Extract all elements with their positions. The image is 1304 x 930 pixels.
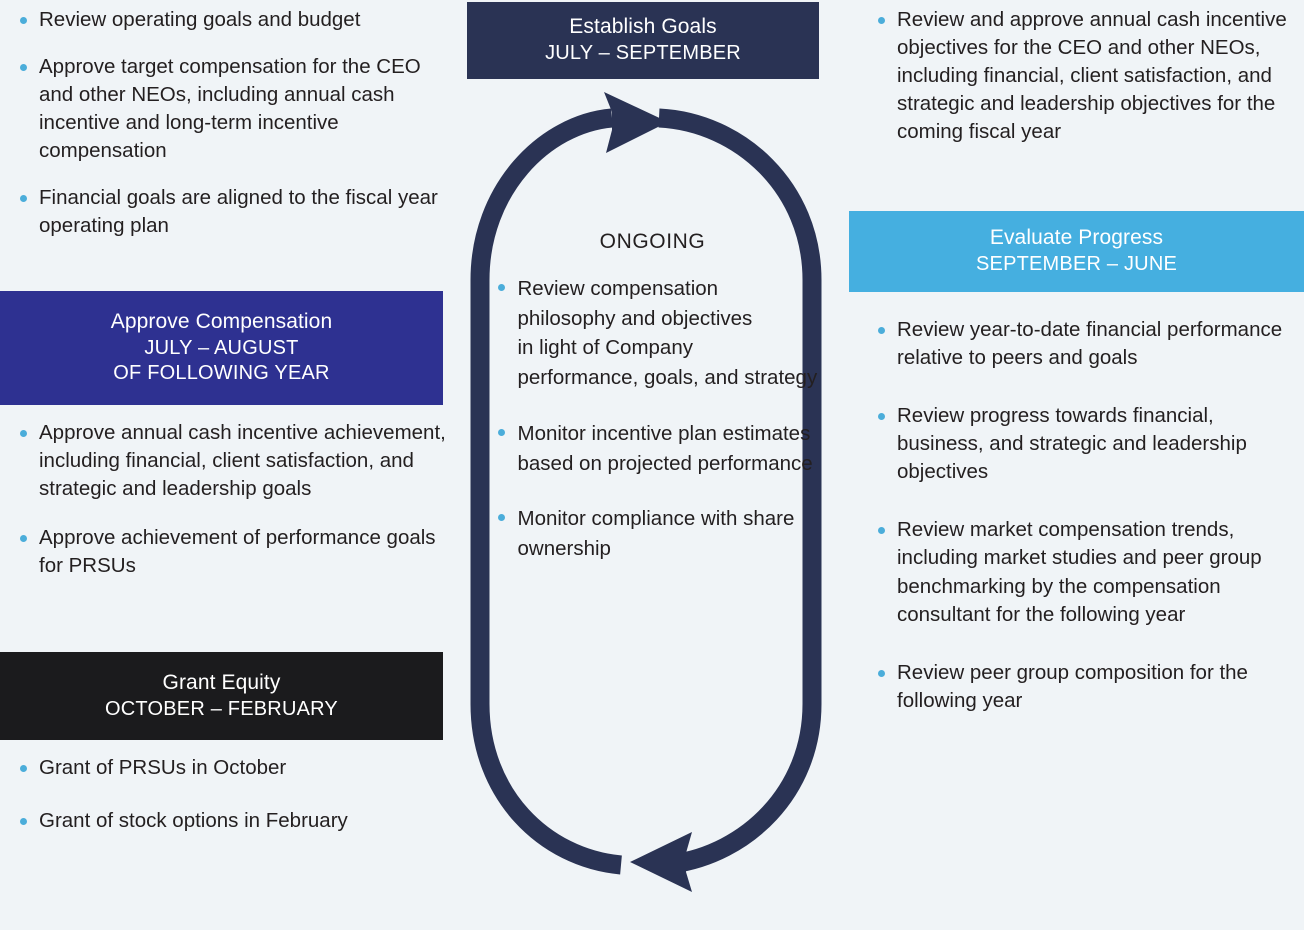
grant-equity-title: Grant Equity — [163, 670, 281, 697]
compensation-cycle-diagram: Review operating goals and budget Approv… — [0, 0, 1304, 930]
list-item: Grant of PRSUs in October — [8, 754, 460, 782]
approve-compensation-header-bar: Approve Compensation JULY – AUGUST OF FO… — [0, 291, 443, 405]
approve-compensation-title: Approve Compensation — [111, 309, 332, 336]
bullet-text: Review and approve annual cash incentive… — [897, 8, 1287, 143]
bullet-text: Approve annual cash incentive achievemen… — [39, 421, 446, 500]
evaluate-progress-bullet-list: Review year-to-date financial performanc… — [866, 316, 1298, 745]
list-item: Monitor compliance with share ownership — [488, 504, 818, 563]
bullet-text: Financial goals are aligned to the fisca… — [39, 186, 438, 237]
list-item: Grant of stock options in February — [8, 807, 460, 835]
bullet-text: Review market compensation trends, inclu… — [897, 518, 1262, 625]
list-item: Financial goals are aligned to the fisca… — [8, 184, 460, 240]
evaluate-progress-title: Evaluate Progress — [990, 225, 1163, 252]
cycle-arrowhead-bottom-icon — [630, 832, 692, 892]
bullet-text: Review compensation philosophy and objec… — [518, 277, 818, 389]
bullet-text: Grant of PRSUs in October — [39, 756, 286, 779]
approve-compensation-period-line2: OF FOLLOWING YEAR — [113, 361, 329, 387]
approve-compensation-period-line1: JULY – AUGUST — [144, 336, 298, 362]
bullet-text: Approve achievement of performance goals… — [39, 526, 436, 577]
establish-goals-title: Establish Goals — [569, 14, 716, 41]
ongoing-label: ONGOING — [480, 230, 825, 254]
bullet-text: Approve target compensation for the CEO … — [39, 55, 421, 162]
establish-goals-header-bar: Establish Goals JULY – SEPTEMBER — [467, 2, 819, 79]
grant-equity-bullet-list: Grant of PRSUs in October Grant of stock… — [8, 754, 460, 860]
bullet-text: Review operating goals and budget — [39, 8, 360, 31]
approve-compensation-bullet-list: Approve annual cash incentive achievemen… — [8, 419, 460, 601]
list-item: Approve annual cash incentive achievemen… — [8, 419, 460, 503]
bullet-text: Review progress towards financial, busin… — [897, 404, 1247, 483]
list-item: Review peer group composition for the fo… — [866, 659, 1298, 715]
list-item: Approve target compensation for the CEO … — [8, 53, 460, 165]
establish-goals-intro-bullet-list: Review operating goals and budget Approv… — [8, 6, 460, 260]
ongoing-bullet-list: Review compensation philosophy and objec… — [488, 274, 818, 564]
list-item: Review market compensation trends, inclu… — [866, 516, 1298, 628]
grant-equity-period: OCTOBER – FEBRUARY — [105, 697, 338, 723]
ongoing-section: ONGOING Review compensation philosophy a… — [480, 230, 825, 700]
list-item: Review operating goals and budget — [8, 6, 460, 34]
list-item: Review progress towards financial, busin… — [866, 402, 1298, 486]
bullet-text: Review year-to-date financial performanc… — [897, 318, 1282, 369]
bullet-text: Review peer group composition for the fo… — [897, 661, 1248, 712]
list-item: Approve achievement of performance goals… — [8, 524, 460, 580]
bullet-text: Monitor incentive plan estimates based o… — [518, 422, 813, 475]
grant-equity-header-bar: Grant Equity OCTOBER – FEBRUARY — [0, 652, 443, 740]
cycle-arrowhead-top-icon — [604, 92, 668, 153]
list-item: Review year-to-date financial performanc… — [866, 316, 1298, 372]
list-item: Review compensation philosophy and objec… — [488, 274, 818, 393]
list-item: Review and approve annual cash incentive… — [866, 6, 1298, 146]
evaluate-progress-period: SEPTEMBER – JUNE — [976, 252, 1177, 278]
bullet-text: Grant of stock options in February — [39, 809, 348, 832]
establish-goals-period: JULY – SEPTEMBER — [545, 41, 741, 67]
bullet-text: Monitor compliance with share ownership — [518, 507, 795, 560]
list-item: Monitor incentive plan estimates based o… — [488, 419, 818, 478]
evaluate-progress-header-bar: Evaluate Progress SEPTEMBER – JUNE — [849, 211, 1304, 292]
establish-goals-bullet-list: Review and approve annual cash incentive… — [866, 6, 1298, 164]
